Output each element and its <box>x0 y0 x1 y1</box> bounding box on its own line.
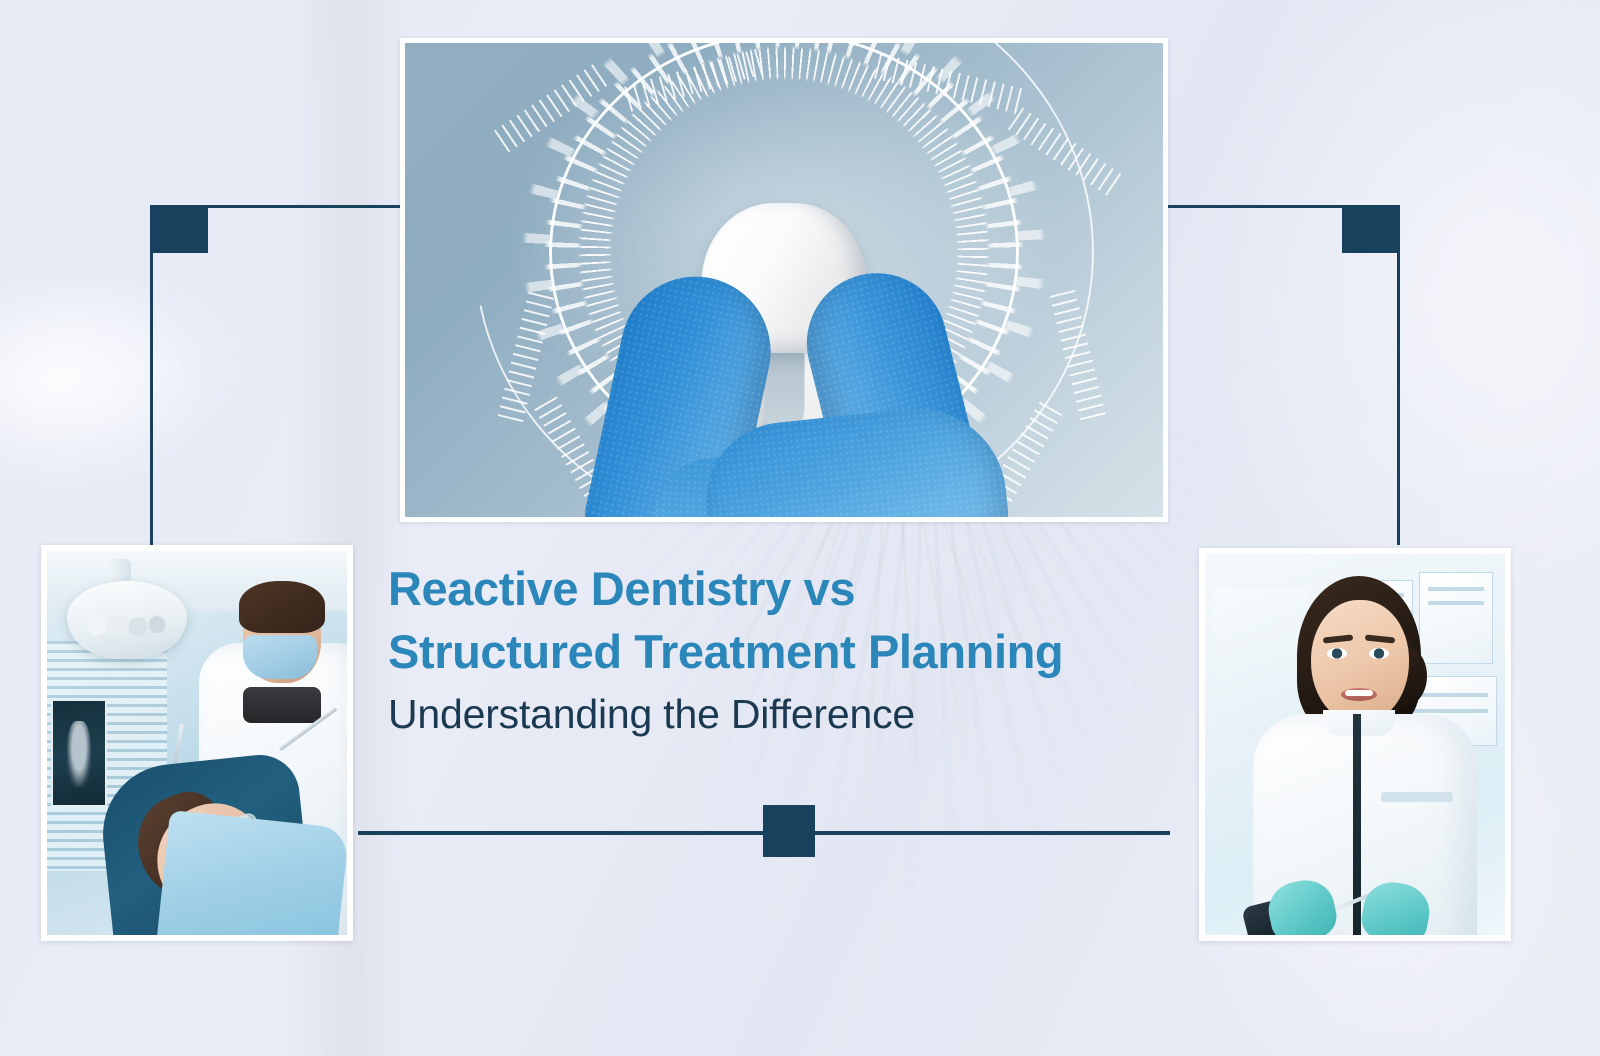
dentist-hair <box>239 581 325 633</box>
certificate-line <box>1414 693 1488 697</box>
certificate-line <box>1428 587 1484 591</box>
photo-left-inner <box>47 551 347 935</box>
patient-bib <box>157 810 347 935</box>
dentist-teeth <box>1345 690 1373 696</box>
photo-female-dentist-portrait <box>1199 548 1511 941</box>
xray-viewer-screen <box>51 699 107 807</box>
headline-block: Reactive Dentistry vs Structured Treatme… <box>388 558 1208 743</box>
certificate-line <box>1414 709 1488 713</box>
dentist-eye-right <box>1369 648 1389 659</box>
framed-certificate-1 <box>1419 572 1493 664</box>
corner-block-top-right <box>1342 205 1400 253</box>
dental-lamp-bulbs <box>83 609 169 643</box>
dentist-face <box>1311 600 1409 724</box>
dental-loupes <box>243 687 321 723</box>
certificate-line <box>1428 601 1484 605</box>
frame-right-line <box>1397 205 1400 545</box>
dentist-eye-left <box>1327 648 1347 659</box>
corner-block-top-left <box>150 205 208 253</box>
dentist-coat-pocket <box>1381 792 1453 802</box>
photo-dentist-examining-patient <box>41 545 353 941</box>
banner-subtitle: Understanding the Difference <box>388 687 1208 743</box>
hero-image-tooth-in-gloved-hand <box>400 38 1168 522</box>
banner-title-line-2: Structured Treatment Planning <box>388 621 1208 684</box>
banner-title-line-1: Reactive Dentistry vs <box>388 558 1208 621</box>
divider-center-square <box>763 805 815 857</box>
hero-image-inner <box>405 43 1163 517</box>
photo-right-inner <box>1205 554 1505 935</box>
frame-left-line <box>150 205 153 545</box>
dentist-face-mask <box>243 635 317 679</box>
